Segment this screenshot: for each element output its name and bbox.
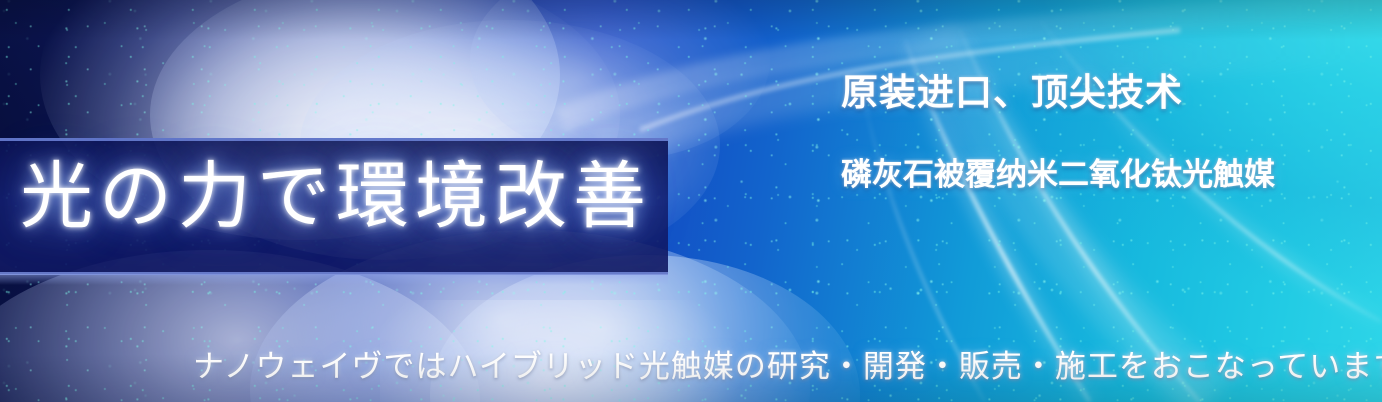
vignette-overlay: [0, 0, 1382, 402]
hero-banner: 光の力で環境改善 原装进口、顶尖技术 磷灰石被覆纳米二氧化钛光触媒 ナノウェイヴ…: [0, 0, 1382, 402]
